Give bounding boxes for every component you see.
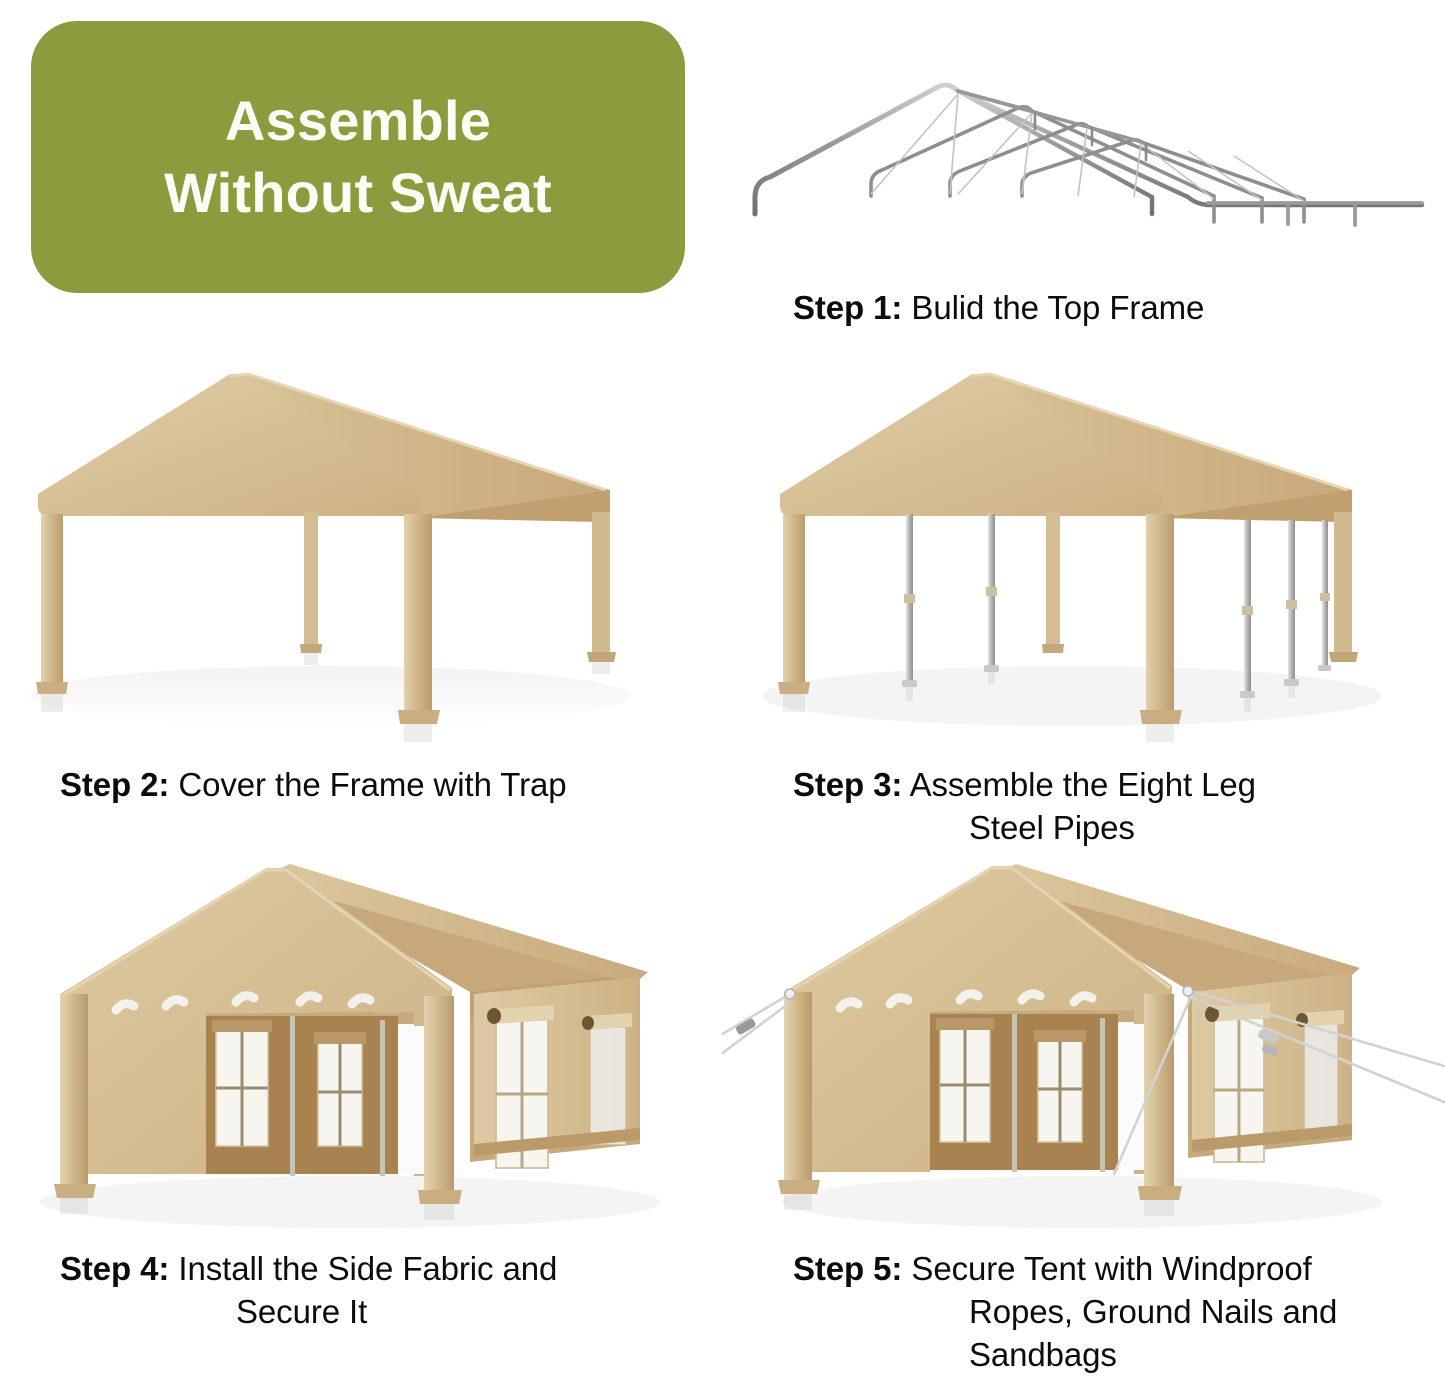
front-left-wall-panel-5 xyxy=(930,1014,1118,1172)
step-2-lead: Step 2: xyxy=(60,766,169,803)
step-2-cell: Step 2: Cover the Frame with Trap xyxy=(0,344,722,844)
step-2-caption: Step 2: Cover the Frame with Trap xyxy=(60,764,567,807)
step-5-lead: Step 5: xyxy=(793,1250,902,1287)
assembly-instructions-page: Assemble Without Sweat xyxy=(0,0,1445,1382)
step-1-lead: Step 1: xyxy=(793,289,902,326)
top-frame-skeleton-svg xyxy=(722,14,1445,274)
step-4-cell: Step 4: Install the Side Fabric and Secu… xyxy=(0,844,722,1382)
step-1-cell: Step 1: Bulid the Top Frame xyxy=(722,14,1445,334)
step-4-body: Install the Side Fabric and xyxy=(178,1250,557,1287)
step-1-body: Bulid the Top Frame xyxy=(911,289,1204,326)
step-2-illustration xyxy=(0,344,722,764)
step-5-body-line-2: Ropes, Ground Nails and xyxy=(969,1291,1337,1334)
step-5-body: Secure Tent with Windproof xyxy=(911,1250,1311,1287)
canopy-four-legs-svg xyxy=(0,344,722,764)
step-5-caption: Step 5: Secure Tent with Windproof Ropes… xyxy=(793,1248,1337,1377)
canopy-eight-legs-svg xyxy=(722,344,1445,764)
step-3-illustration xyxy=(722,344,1445,764)
headline-badge: Assemble Without Sweat xyxy=(31,21,685,293)
step-1-caption: Step 1: Bulid the Top Frame xyxy=(793,287,1204,330)
step-4-lead: Step 4: xyxy=(60,1250,169,1287)
headline-badge-text: Assemble Without Sweat xyxy=(164,85,552,228)
step-1-illustration xyxy=(722,14,1445,274)
headline-line-2: Without Sweat xyxy=(164,161,552,224)
step-3-lead: Step 3: xyxy=(793,766,902,803)
step-5-illustration xyxy=(722,844,1445,1244)
tent-side-fabric-svg xyxy=(0,844,722,1244)
tent-guy-ropes-svg xyxy=(722,844,1445,1244)
front-left-wall-panel xyxy=(206,1016,398,1176)
step-3-body: Assemble the Eight Leg xyxy=(910,766,1256,803)
step-5-cell: Step 5: Secure Tent with Windproof Ropes… xyxy=(722,844,1445,1382)
step-4-caption: Step 4: Install the Side Fabric and Secu… xyxy=(60,1248,557,1334)
headline-line-1: Assemble xyxy=(225,89,491,152)
step-3-caption: Step 3: Assemble the Eight Leg Steel Pip… xyxy=(793,764,1256,850)
step-4-body-line-2: Secure It xyxy=(236,1291,557,1334)
step-5-body-line-3: Sandbags xyxy=(969,1334,1337,1377)
step-3-cell: Step 3: Assemble the Eight Leg Steel Pip… xyxy=(722,344,1445,844)
step-4-illustration xyxy=(0,844,722,1244)
step-2-body: Cover the Frame with Trap xyxy=(178,766,566,803)
